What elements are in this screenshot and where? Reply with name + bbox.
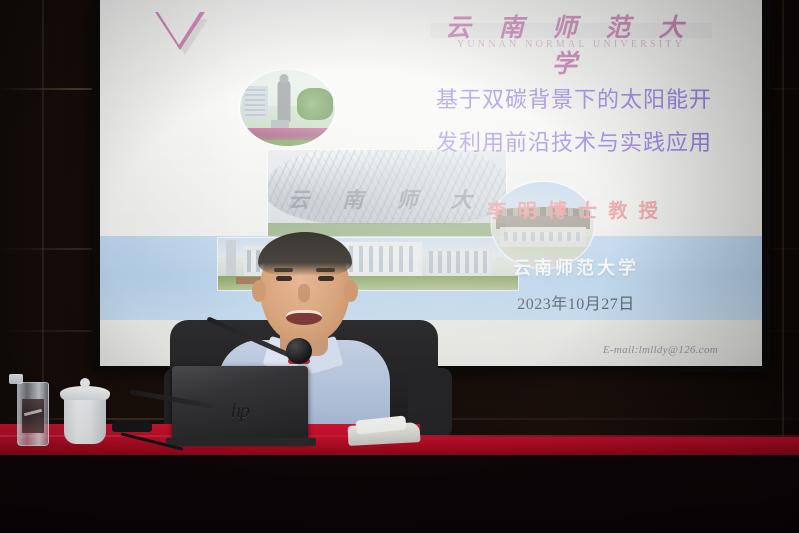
speaker-eye-left [276,276,292,281]
university-name-en: YUNNAN NORMAL UNIVERSITY [412,39,730,50]
speaker-ear-right [344,280,358,302]
speaker-brow-left [274,268,293,272]
lecture-scene: 云 南 师 范 大 学 YUNNAN NORMAL UNIVERSITY [0,0,799,533]
slide-date: 2023年10月27日 [400,290,752,314]
water-bottle [17,382,49,446]
slide-title-line-2: 发利用前沿技术与实践应用 [390,125,758,157]
university-wordmark: 云 南 师 范 大 学 YUNNAN NORMAL UNIVERSITY [412,8,730,60]
inverted-triangle-logo-icon [152,7,214,59]
presentation-slide: 云 南 师 范 大 学 YUNNAN NORMAL UNIVERSITY [100,0,762,366]
slide-affiliation: 云南师范大学 [400,254,752,280]
statue-oval-photo [240,70,335,146]
slide-presenter-name: 李 明 博 士 教 授 [390,196,758,223]
tea-cup-lid [60,386,110,400]
tea-cup-knob [80,378,90,388]
bottle-label [22,399,44,433]
speaker-eye-right [318,276,334,281]
speaker-nose [298,284,310,302]
speaker-ear-left [252,280,266,302]
tea-cup [64,396,106,444]
rock-monument-photo: 云 南 师 大 [268,150,506,238]
projection-screen: 云 南 师 范 大 学 YUNNAN NORMAL UNIVERSITY [100,0,762,366]
laptop-base [166,438,316,446]
table-front-panel [0,455,799,533]
microphone-head-icon [286,338,312,364]
microphone-base [112,420,152,432]
speaker-mouth [286,310,322,325]
slide-title-line-1: 基于双碳背景下的太阳能开 [390,82,758,114]
projection-screen-frame: 云 南 师 范 大 学 YUNNAN NORMAL UNIVERSITY [92,0,770,372]
slide-email: E-mail:lmlldy@126.com [603,344,718,356]
hp-logo-icon: hp [231,400,249,423]
speaker-brow-right [316,268,335,272]
speaker-hair [258,232,352,276]
